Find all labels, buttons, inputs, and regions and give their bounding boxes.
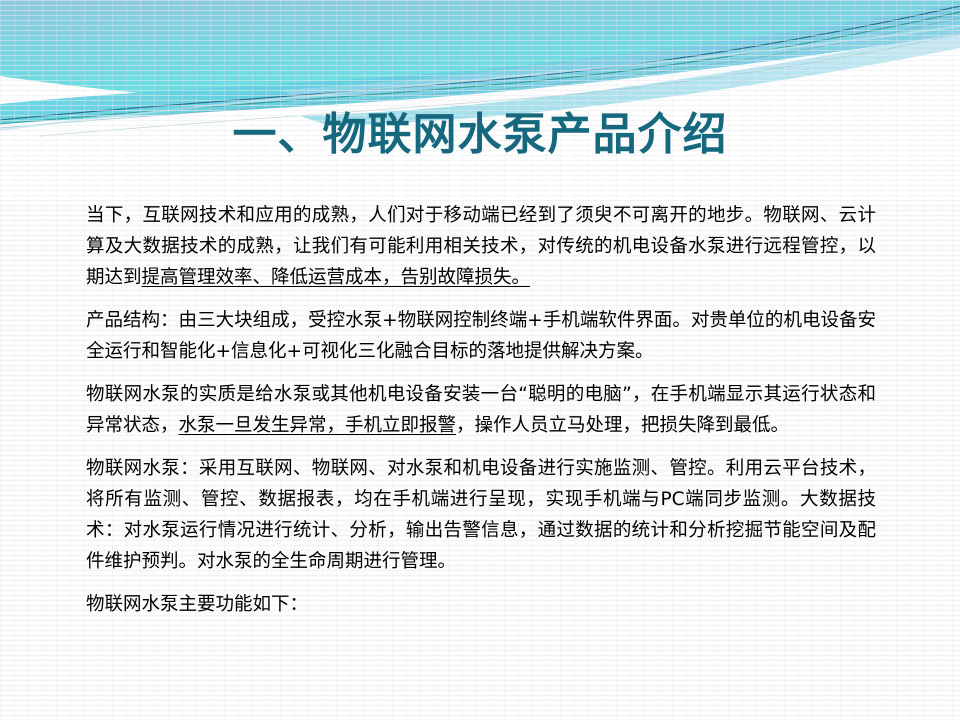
page-title: 一、物联网水泵产品介绍 [233,108,728,162]
paragraph-intro: 当下，互联网技术和应用的成熟，人们对于移动端已经到了须臾不可离开的地步。物联网、… [86,200,876,293]
text-run: 物联网水泵主要功能如下： [86,594,308,615]
header-wave-decoration [0,0,960,200]
presentation-slide: 一、物联网水泵产品介绍 当下，互联网技术和应用的成熟，人们对于移动端已经到了须臾… [0,0,960,720]
paragraph-functions-lead: 物联网水泵主要功能如下： [86,589,876,620]
slide-body: 当下，互联网技术和应用的成熟，人们对于移动端已经到了须臾不可离开的地步。物联网、… [86,200,876,620]
text-run: 产品结构：由三大块组成，受控水泵+物联网控制终端+手机端软件界面。对贵单位的机电… [86,310,876,362]
title-block: 一、物联网水泵产品介绍 [0,108,960,162]
text-run: ，操作人员立马处理，把损失降到最低。 [456,415,789,436]
text-run-underlined: 水泵一旦发生异常，手机立即报警 [179,415,457,436]
paragraph-structure: 产品结构：由三大块组成，受控水泵+物联网控制终端+手机端软件界面。对贵单位的机电… [86,305,876,367]
paragraph-tech: 物联网水泵：采用互联网、物联网、对水泵和机电设备进行实施监测、管控。利用云平台技… [86,453,876,577]
text-run: 物联网水泵：采用互联网、物联网、对水泵和机电设备进行实施监测、管控。利用云平台技… [86,458,876,572]
paragraph-essence: 物联网水泵的实质是给水泵或其他机电设备安装一台“聪明的电脑”，在手机端显示其运行… [86,379,876,441]
text-run-underlined: 提高管理效率、降低运营成本，告别故障损失。 [142,267,531,288]
